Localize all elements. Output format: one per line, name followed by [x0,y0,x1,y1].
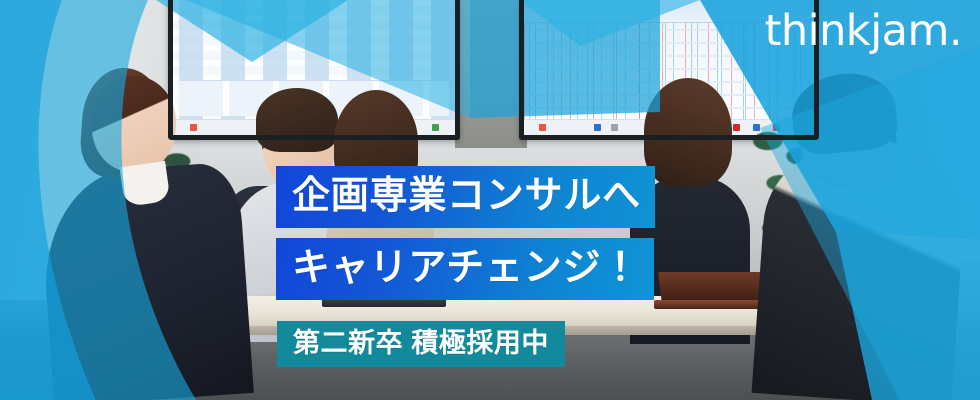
taskbar-icon [432,124,439,131]
headline-line1: 企画専業コンサルへ [276,166,655,228]
recruitment-banner: 企画専業コンサルへ キャリアチェンジ！ 第二新卒 積極採用中 thinkjam. [0,0,980,400]
subhead-wrap: 第二新卒 積極採用中 [277,321,565,367]
taskbar-icon [611,124,618,131]
headline-line2: キャリアチェンジ！ [276,238,654,300]
taskbar-icon [733,124,740,131]
taskbar-icon [594,124,601,131]
subhead-badge: 第二新卒 積極採用中 [277,321,565,367]
wall-pillar [455,0,527,148]
person-right-hair [644,78,732,186]
headline-line1-wrap: 企画専業コンサルへ [276,166,655,228]
headline-line2-wrap: キャリアチェンジ！ [276,238,654,300]
thinkjam-logo[interactable]: thinkjam. [765,10,962,53]
taskbar-icon [539,124,546,131]
person-center-left-hair [256,88,338,152]
